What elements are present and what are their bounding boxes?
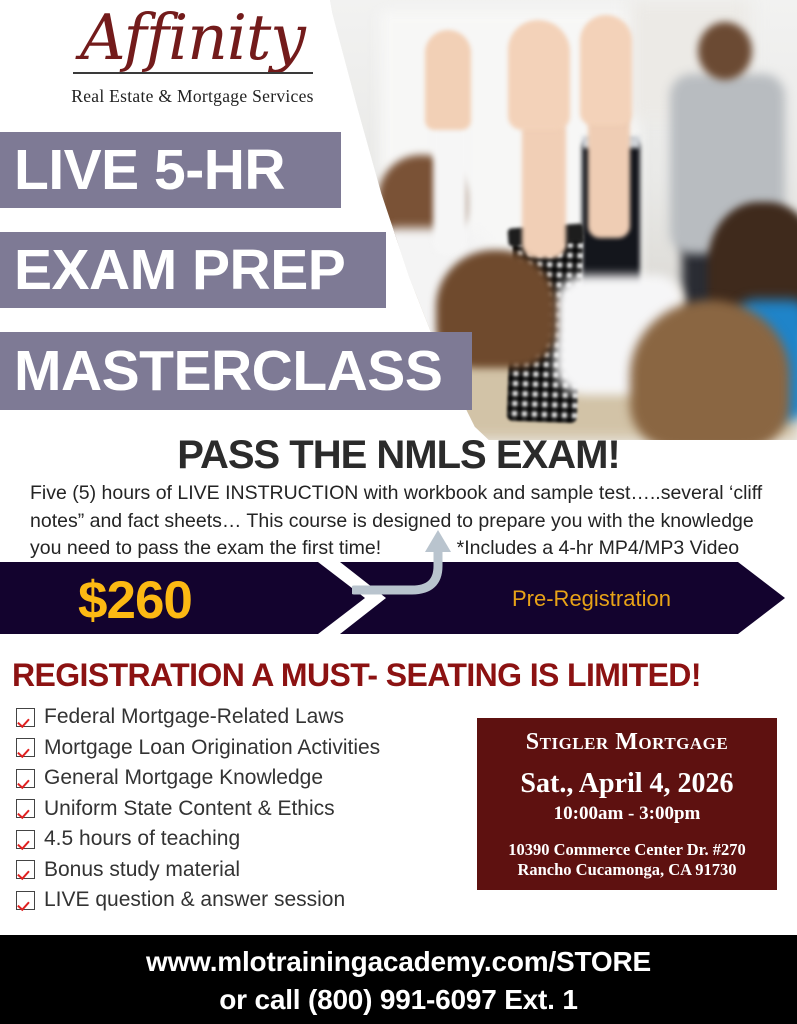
list-item: 4.5 hours of teaching: [16, 824, 476, 855]
checkbox-checked-icon: [16, 799, 35, 818]
event-time: 10:00am - 3:00pm: [477, 803, 777, 825]
checklist-label: Mortgage Loan Origination Activities: [44, 736, 380, 760]
description-line-3: you need to pass the exam the first time…: [30, 537, 381, 559]
curved-up-arrow-icon: [352, 528, 462, 614]
checklist-label: 4.5 hours of teaching: [44, 827, 240, 851]
title-bar-3: MASTERCLASS: [0, 332, 472, 410]
checkbox-checked-icon: [16, 708, 35, 727]
list-item: Mortgage Loan Origination Activities: [16, 733, 476, 764]
checkbox-checked-icon: [16, 830, 35, 849]
footer-contact-bar: www.mlotrainingacademy.com/STORE or call…: [0, 935, 797, 1024]
checklist-label: Uniform State Content & Ethics: [44, 797, 335, 821]
list-item: Uniform State Content & Ethics: [16, 794, 476, 825]
includes-note: *Includes a 4-hr MP4/MP3 Video: [457, 537, 740, 559]
pre-registration-label: Pre-Registration: [512, 586, 671, 612]
list-item: LIVE question & answer session: [16, 885, 476, 916]
event-date: Sat., April 4, 2026: [477, 768, 777, 800]
features-checklist: Federal Mortgage-Related Laws Mortgage L…: [16, 702, 476, 916]
checkbox-checked-icon: [16, 891, 35, 910]
event-address-line-2: Rancho Cucamonga, CA 91730: [477, 860, 777, 880]
page-title: PASS THE NMLS EXAM!: [0, 433, 797, 478]
event-host: Stigler Mortgage: [477, 729, 777, 756]
list-item: Federal Mortgage-Related Laws: [16, 702, 476, 733]
list-item: Bonus study material: [16, 855, 476, 886]
checklist-label: LIVE question & answer session: [44, 888, 345, 912]
event-address-line-1: 10390 Commerce Center Dr. #270: [477, 840, 777, 860]
logo-wordmark: Affinity: [55, 6, 330, 69]
footer-phone[interactable]: or call (800) 991-6097 Ext. 1: [0, 984, 797, 1016]
event-details-box: Stigler Mortgage Sat., April 4, 2026 10:…: [477, 718, 777, 890]
list-item: General Mortgage Knowledge: [16, 763, 476, 794]
title-bar-2: EXAM PREP: [0, 232, 386, 308]
checklist-label: General Mortgage Knowledge: [44, 766, 323, 790]
price-value: $260: [78, 570, 192, 631]
checkbox-checked-icon: [16, 860, 35, 879]
title-bar-1: LIVE 5-HR: [0, 132, 341, 208]
affinity-logo: Affinity Real Estate & Mortgage Services: [55, 6, 330, 107]
checkbox-checked-icon: [16, 769, 35, 788]
checklist-label: Federal Mortgage-Related Laws: [44, 705, 344, 729]
checklist-label: Bonus study material: [44, 858, 240, 882]
logo-tagline: Real Estate & Mortgage Services: [55, 86, 330, 107]
registration-heading: REGISTRATION A MUST- SEATING IS LIMITED!: [12, 657, 701, 694]
logo-divider: [73, 72, 313, 74]
flyer-page: Affinity Real Estate & Mortgage Services…: [0, 0, 797, 1024]
description-line-1: Five (5) hours of LIVE INSTRUCTION with …: [30, 480, 772, 508]
checkbox-checked-icon: [16, 738, 35, 757]
footer-website[interactable]: www.mlotrainingacademy.com/STORE: [0, 935, 797, 978]
